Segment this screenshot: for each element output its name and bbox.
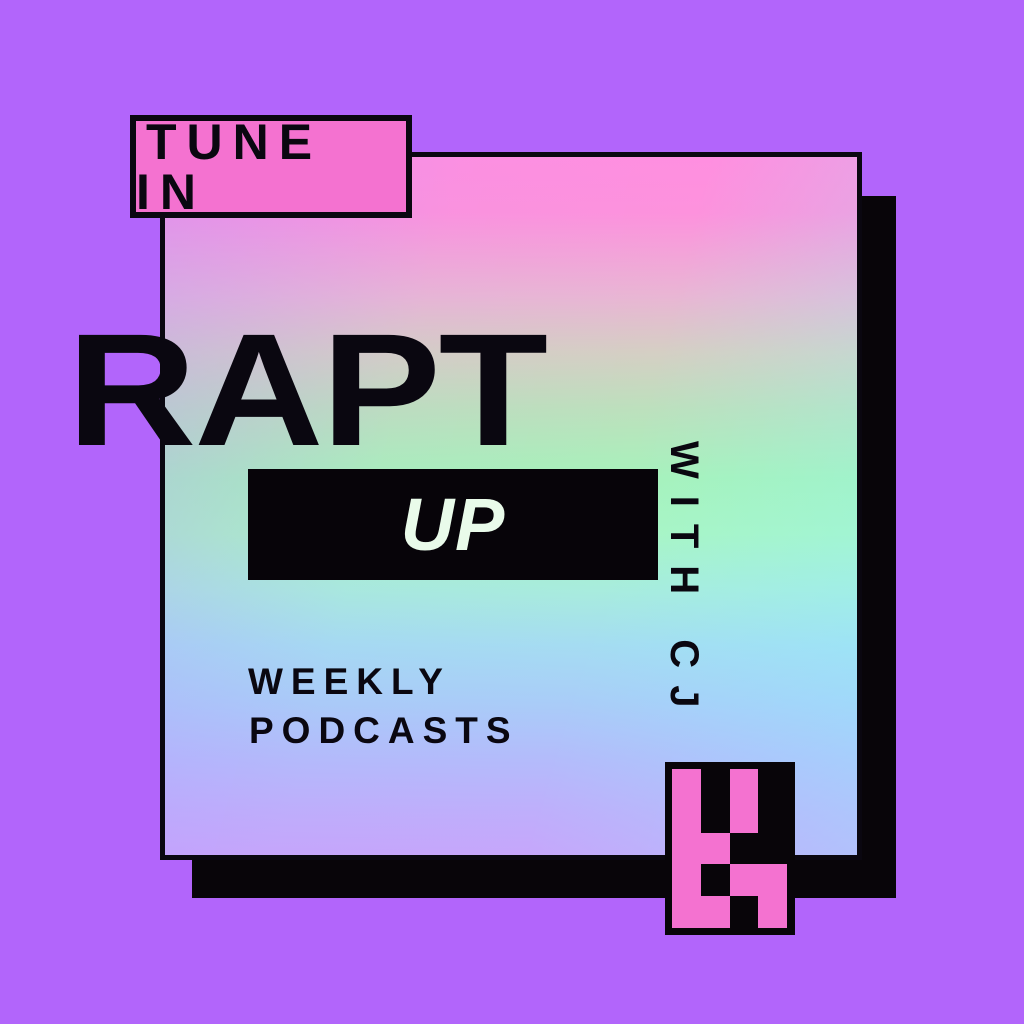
title-secondary-bar: UP xyxy=(248,469,658,580)
pixel-cell xyxy=(758,801,787,833)
pixel-cell xyxy=(758,896,787,928)
subtitle: WEEKLY PODCASTS xyxy=(248,658,519,756)
panel-shadow-right xyxy=(862,196,896,896)
pixel-cell xyxy=(672,896,701,928)
subtitle-line-1: WEEKLY xyxy=(248,658,519,707)
subtitle-line-2: PODCASTS xyxy=(248,707,519,756)
pixel-cell xyxy=(701,896,730,928)
pixel-cell xyxy=(730,864,759,896)
pixel-cell xyxy=(758,864,787,896)
pixel-cell xyxy=(701,769,730,801)
pixel-cell xyxy=(730,801,759,833)
pixel-cell xyxy=(758,769,787,801)
pixel-cell xyxy=(701,864,730,896)
podcast-cover-art: TUNE IN RAPT UP WEEKLY PODCASTS WITH CJ xyxy=(0,0,1024,1024)
tune-in-label: TUNE IN xyxy=(136,117,406,217)
pixel-cell xyxy=(672,864,701,896)
pixel-cell xyxy=(730,833,759,865)
pixel-glitch-block xyxy=(665,762,795,935)
title-secondary-label: UP xyxy=(401,488,506,562)
pixel-cell xyxy=(730,896,759,928)
pixel-cell xyxy=(758,833,787,865)
title-primary: RAPT xyxy=(67,310,546,470)
pixel-cell xyxy=(672,801,701,833)
tune-in-badge[interactable]: TUNE IN xyxy=(130,115,412,218)
pixel-cell xyxy=(701,801,730,833)
pixel-cell xyxy=(672,769,701,801)
pixel-cell xyxy=(672,833,701,865)
pixel-cell xyxy=(730,769,759,801)
pixel-cell xyxy=(701,833,730,865)
host-credit-vertical: WITH CJ xyxy=(664,441,704,501)
